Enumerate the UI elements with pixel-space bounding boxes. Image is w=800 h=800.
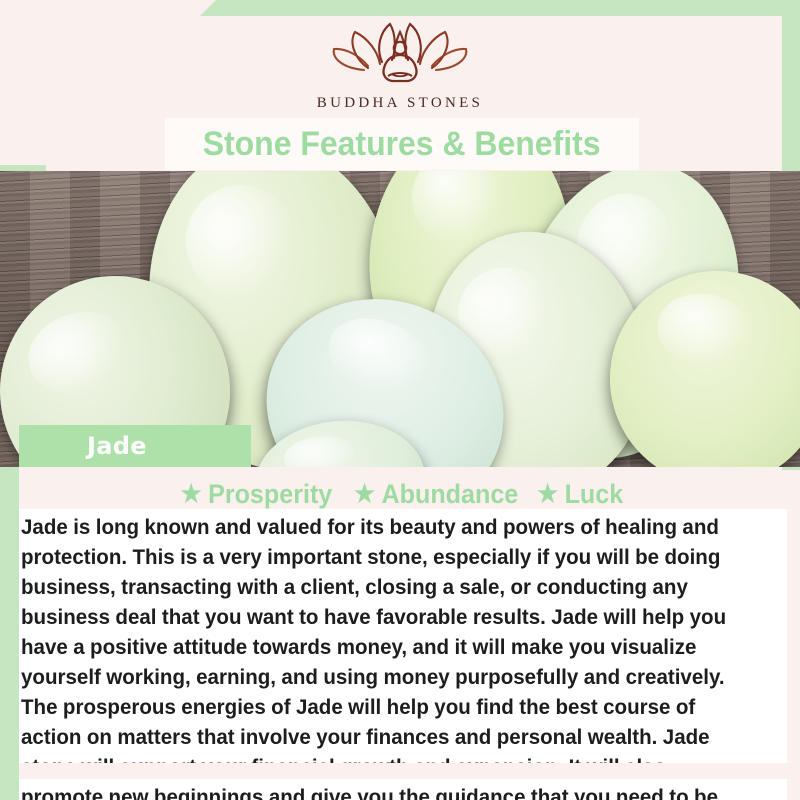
keyword-prosperity: ★ Prosperity (180, 479, 332, 510)
star-icon: ★ (354, 482, 375, 507)
brand-logo: BUDDHA STONES (0, 18, 800, 118)
keyword-label: Luck (565, 479, 624, 510)
description-text: Jade is long known and valued for its be… (21, 512, 751, 800)
description-bottom-padding (19, 763, 787, 779)
keyword-row: ★ Prosperity ★ Abundance ★ Luck (19, 477, 782, 511)
keyword-label: Abundance (381, 479, 518, 510)
decor-green-top-band (0, 0, 800, 16)
keyword-luck: ★ Luck (537, 479, 623, 510)
description-block: Jade is long known and valued for its be… (19, 509, 787, 800)
stone-name-tab: Jade (19, 425, 251, 467)
title-banner: Stone Features & Benefits (165, 118, 639, 170)
star-icon: ★ (537, 482, 558, 507)
infographic-card: BUDDHA STONES Stone Features & Benefits … (0, 0, 800, 800)
keyword-label: Prosperity (208, 479, 332, 510)
keyword-abundance: ★ Abundance (354, 479, 518, 510)
hero-stone-photo (0, 171, 800, 467)
page-title: Stone Features & Benefits (203, 125, 601, 164)
star-icon: ★ (180, 482, 201, 507)
stone-name-label: Jade (87, 432, 147, 460)
lotus-meditation-icon (324, 18, 476, 90)
brand-name: BUDDHA STONES (317, 95, 483, 112)
